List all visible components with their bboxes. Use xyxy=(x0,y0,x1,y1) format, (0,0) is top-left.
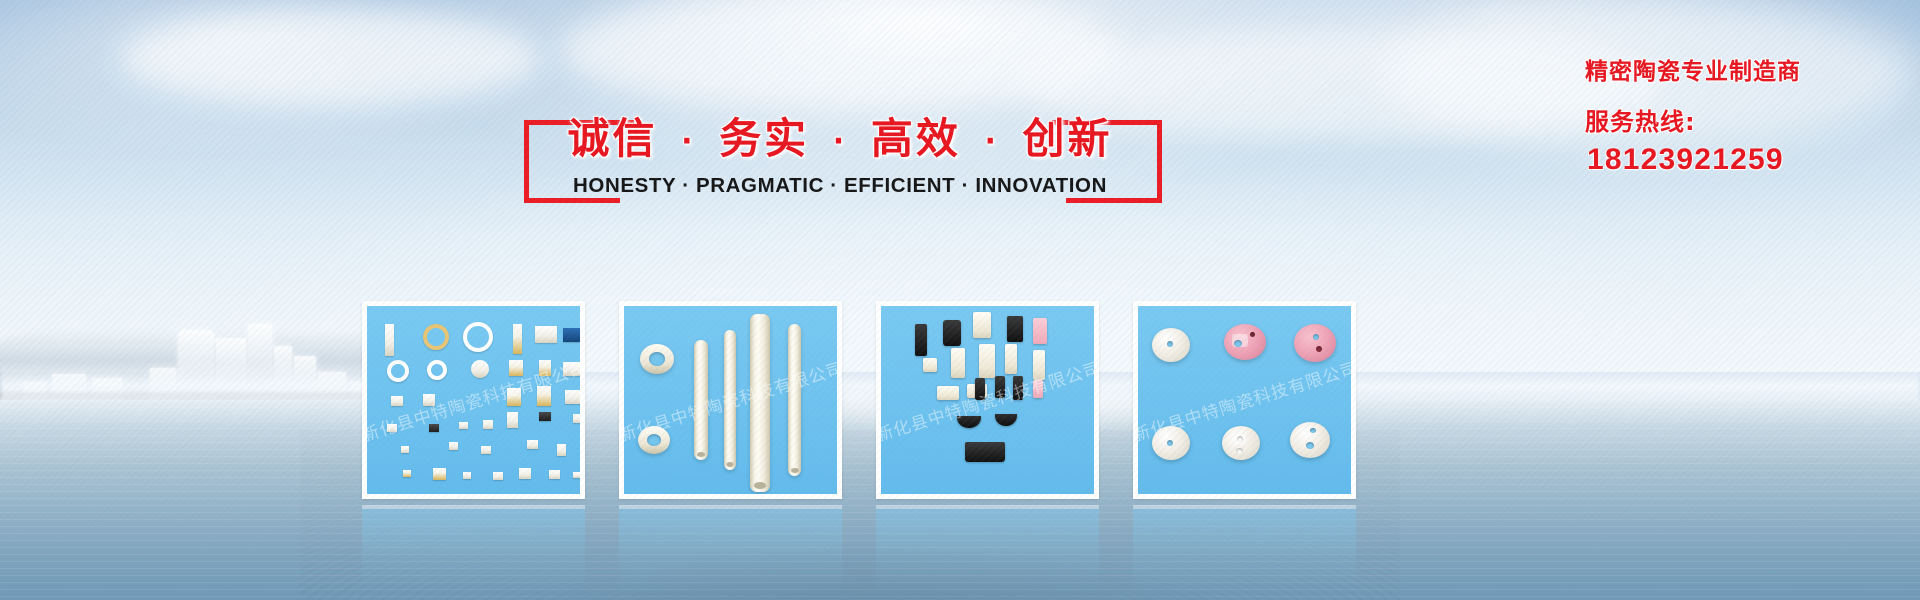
slogan-separator: · xyxy=(978,124,1004,159)
slogan-chinese: 诚信 · 务实 · 高效 · 创新 xyxy=(560,112,1120,169)
product-panel-ceramic-tubes-and-rings[interactable]: 新化县中特陶瓷科技有限公司 xyxy=(619,301,842,499)
product-panel-smd-ceramic-chip-components[interactable]: 新化县中特陶瓷科技有限公司 xyxy=(362,301,585,499)
hotline-label: 服务热线: xyxy=(1585,102,1905,137)
panel-photo: 新化县中特陶瓷科技有限公司 xyxy=(624,306,837,494)
slogan-word-2: 务实 xyxy=(719,114,809,163)
contact-block: 精密陶瓷专业制造商 服务热线: 18123921259 xyxy=(1585,52,1905,177)
slogan-word-3: 高效 xyxy=(871,114,961,163)
panel-photo: 新化县中特陶瓷科技有限公司 xyxy=(367,306,580,494)
panel-photo: 新化县中特陶瓷科技有限公司 xyxy=(1138,306,1351,494)
banner-stage: 诚信 · 务实 · 高效 · 创新 HONESTY · PRAGMATIC · … xyxy=(0,0,1920,600)
product-panel-row: 新化县中特陶瓷科技有限公司 xyxy=(362,301,1562,499)
slogan-separator: · xyxy=(675,124,701,159)
company-tagline: 精密陶瓷专业制造商 xyxy=(1585,52,1905,86)
cloud-left xyxy=(120,10,540,106)
product-panel-ceramic-discs-and-nozzles[interactable]: 新化县中特陶瓷科技有限公司 xyxy=(1133,301,1356,499)
hotline-number[interactable]: 18123921259 xyxy=(1587,143,1905,177)
slogan-separator: · xyxy=(827,124,853,159)
slogan-word-4: 创新 xyxy=(1023,114,1113,163)
slogan-word-1: 诚信 xyxy=(567,114,657,163)
slogan-english: HONESTY · PRAGMATIC · EFFICIENT · INNOVA… xyxy=(560,174,1120,198)
slogan-block: 诚信 · 务实 · 高效 · 创新 HONESTY · PRAGMATIC · … xyxy=(560,112,1120,202)
panel-photo: 新化县中特陶瓷科技有限公司 xyxy=(881,306,1094,494)
product-panel-ceramic-blocks-and-blades[interactable]: 新化县中特陶瓷科技有限公司 xyxy=(876,301,1099,499)
